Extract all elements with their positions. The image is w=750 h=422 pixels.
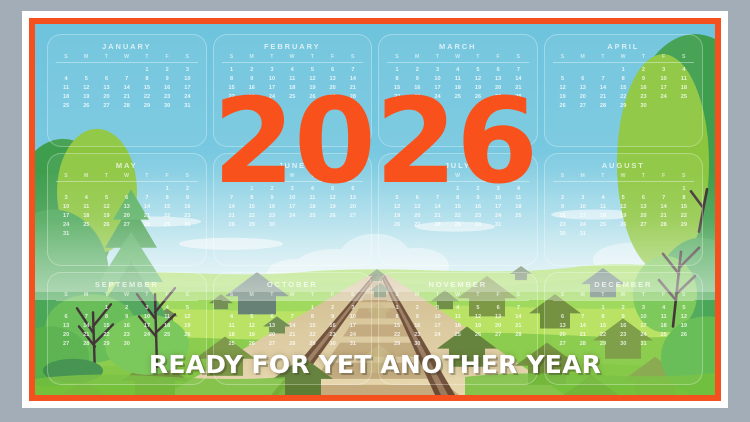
calendar-blank-cell xyxy=(553,66,573,75)
weekday-label: S xyxy=(177,54,197,60)
calendar-days: 1234567891011121314151617181920212223242… xyxy=(222,304,364,349)
calendar-month-title: SEPTEMBER xyxy=(56,280,198,289)
weekday-label: W xyxy=(117,292,137,298)
calendar-day-cell: 8 xyxy=(387,313,407,322)
calendar-day-cell: 30 xyxy=(553,230,573,239)
weekday-label: T xyxy=(468,54,488,60)
weekday-label: S xyxy=(508,292,528,298)
calendar-day-cell: 19 xyxy=(387,212,407,221)
weekday-label: S xyxy=(387,292,407,298)
calendar-day-cell: 23 xyxy=(323,331,343,340)
calendar-day-cell: 20 xyxy=(117,212,137,221)
calendar-month-title: FEBRUARY xyxy=(222,42,364,51)
calendar-day-cell: 28 xyxy=(654,221,674,230)
calendar-day-cell: 23 xyxy=(407,331,427,340)
calendar-day-cell: 4 xyxy=(157,304,177,313)
weekday-label: M xyxy=(407,54,427,60)
weekday-label: M xyxy=(573,54,593,60)
calendar-day-cell: 23 xyxy=(117,331,137,340)
calendar-day-cell: 28 xyxy=(573,340,593,349)
calendar-day-cell: 25 xyxy=(222,340,242,349)
calendar-day-cell: 20 xyxy=(488,322,508,331)
calendar-day-cell: 6 xyxy=(56,313,76,322)
calendar-day-cell: 1 xyxy=(387,304,407,313)
calendar-day-cell: 4 xyxy=(654,304,674,313)
weekday-label: S xyxy=(343,54,363,60)
calendar-day-cell: 26 xyxy=(323,212,343,221)
calendar-day-cell: 5 xyxy=(468,304,488,313)
calendar-days: 1234567891011121314151617181920212223242… xyxy=(56,304,198,349)
calendar-day-cell: 25 xyxy=(157,331,177,340)
calendar-day-cell: 28 xyxy=(508,331,528,340)
calendar-day-cell: 24 xyxy=(427,331,447,340)
calendar-day-cell: 27 xyxy=(343,212,363,221)
calendar-day-cell: 29 xyxy=(593,340,613,349)
calendar-day-cell: 24 xyxy=(633,331,653,340)
calendar-day-cell: 28 xyxy=(427,221,447,230)
calendar-day-cell: 17 xyxy=(137,322,157,331)
calendar-day-cell: 20 xyxy=(407,212,427,221)
calendar-day-cell: 8 xyxy=(593,313,613,322)
calendar-day-cell: 20 xyxy=(553,331,573,340)
calendar-day-cell: 26 xyxy=(242,340,262,349)
calendar-day-cell: 21 xyxy=(654,212,674,221)
calendar-day-cell: 20 xyxy=(56,331,76,340)
calendar-day-cell: 28 xyxy=(137,221,157,230)
calendar-day-cell: 19 xyxy=(468,322,488,331)
calendar-day-cell: 6 xyxy=(553,313,573,322)
calendar-day-cell: 15 xyxy=(593,322,613,331)
calendar-day-cell: 22 xyxy=(157,212,177,221)
calendar-day-cell: 28 xyxy=(282,340,302,349)
calendar-day-cell: 15 xyxy=(157,203,177,212)
weekday-label: T xyxy=(593,54,613,60)
calendar-day-cell: 9 xyxy=(407,313,427,322)
calendar-day-cell: 31 xyxy=(573,230,593,239)
year-headline: 2026 xyxy=(35,82,715,200)
calendar-month-title: OCTOBER xyxy=(222,280,364,289)
weekday-label: T xyxy=(96,54,116,60)
calendar-day-cell: 14 xyxy=(76,322,96,331)
calendar-day-cell: 10 xyxy=(137,313,157,322)
calendar-days: 1234567891011121314151617181920212223242… xyxy=(387,304,529,349)
calendar-day-cell: 28 xyxy=(76,340,96,349)
calendar-day-cell: 13 xyxy=(117,203,137,212)
calendar-day-cell: 16 xyxy=(553,212,573,221)
calendar-day-cell: 5 xyxy=(674,304,694,313)
weekday-label: T xyxy=(262,54,282,60)
calendar-day-cell: 29 xyxy=(674,221,694,230)
calendar-day-cell: 13 xyxy=(633,203,653,212)
calendar-day-cell: 9 xyxy=(117,313,137,322)
calendar-day-cell: 10 xyxy=(427,313,447,322)
calendar-day-cell: 29 xyxy=(387,340,407,349)
weekday-label: S xyxy=(674,292,694,298)
calendar-day-cell: 16 xyxy=(613,322,633,331)
calendar-day-cell: 23 xyxy=(177,212,197,221)
calendar-day-cell: 14 xyxy=(654,203,674,212)
calendar-day-cell: 9 xyxy=(613,313,633,322)
calendar-blank-cell xyxy=(96,66,116,75)
weekday-label: F xyxy=(654,54,674,60)
calendar-day-cell: 2 xyxy=(323,304,343,313)
calendar-month-title: NOVEMBER xyxy=(387,280,529,289)
weekday-label: M xyxy=(76,54,96,60)
calendar-day-cell: 21 xyxy=(508,322,528,331)
calendar-weekday-header: SMTWTFS xyxy=(553,54,695,63)
calendar-day-cell: 13 xyxy=(262,322,282,331)
calendar-day-cell: 8 xyxy=(96,313,116,322)
calendar-day-cell: 27 xyxy=(407,221,427,230)
calendar-day-cell: 30 xyxy=(613,340,633,349)
calendar-blank-cell xyxy=(573,304,593,313)
weekday-label: S xyxy=(553,54,573,60)
calendar-weekday-header: SMTWTFS xyxy=(387,54,529,63)
calendar-day-cell: 21 xyxy=(427,212,447,221)
calendar-day-cell: 21 xyxy=(282,331,302,340)
calendar-day-cell: 11 xyxy=(593,203,613,212)
calendar-day-cell: 21 xyxy=(573,331,593,340)
calendar-day-cell: 24 xyxy=(137,331,157,340)
weekday-label: W xyxy=(117,54,137,60)
weekday-label: T xyxy=(468,292,488,298)
weekday-label: W xyxy=(282,292,302,298)
weekday-label: F xyxy=(323,292,343,298)
calendar-day-cell: 16 xyxy=(323,322,343,331)
calendar-day-cell: 14 xyxy=(137,203,157,212)
calendar-month-title: APRIL xyxy=(553,42,695,51)
calendar-day-cell: 19 xyxy=(242,331,262,340)
calendar-day-cell: 6 xyxy=(262,313,282,322)
calendar-day-cell: 22 xyxy=(387,331,407,340)
calendar-day-cell: 15 xyxy=(674,203,694,212)
calendar-day-cell: 14 xyxy=(573,322,593,331)
calendar-day-cell: 13 xyxy=(56,322,76,331)
weekday-label: W xyxy=(613,292,633,298)
calendar-day-cell: 19 xyxy=(177,322,197,331)
calendar-day-cell: 23 xyxy=(262,212,282,221)
calendar-blank-cell xyxy=(56,304,76,313)
calendar-day-cell: 22 xyxy=(242,212,262,221)
calendar-day-cell: 1 xyxy=(302,304,322,313)
calendar-day-cell: 27 xyxy=(262,340,282,349)
poster-canvas: JANUARYSMTWTFS 1234567891011121314151617… xyxy=(0,0,750,422)
calendar-day-cell: 1 xyxy=(137,66,157,75)
calendar-day-cell: 31 xyxy=(56,230,76,239)
calendar-day-cell: 19 xyxy=(674,322,694,331)
calendar-day-cell: 9 xyxy=(323,313,343,322)
calendar-day-cell: 26 xyxy=(387,221,407,230)
calendar-day-cell: 28 xyxy=(222,221,242,230)
calendar-blank-cell xyxy=(76,304,96,313)
calendar-day-cell: 17 xyxy=(343,322,363,331)
calendar-blank-cell xyxy=(56,66,76,75)
calendar-day-cell: 3 xyxy=(654,66,674,75)
calendar-day-cell: 19 xyxy=(96,212,116,221)
calendar-day-cell: 17 xyxy=(427,322,447,331)
calendar-weekday-header: SMTWTFS xyxy=(222,292,364,301)
weekday-label: F xyxy=(488,54,508,60)
calendar-day-cell: 26 xyxy=(468,331,488,340)
weekday-label: T xyxy=(633,292,653,298)
calendar-day-cell: 26 xyxy=(177,331,197,340)
weekday-label: S xyxy=(56,292,76,298)
calendar-weekday-header: SMTWTFS xyxy=(553,292,695,301)
calendar-day-cell: 18 xyxy=(157,322,177,331)
calendar-day-cell: 13 xyxy=(553,322,573,331)
calendar-day-cell: 31 xyxy=(488,221,508,230)
calendar-day-cell: 26 xyxy=(96,221,116,230)
calendar-day-cell: 23 xyxy=(468,212,488,221)
calendar-day-cell: 30 xyxy=(117,340,137,349)
calendar-day-cell: 11 xyxy=(222,322,242,331)
calendar-day-cell: 4 xyxy=(448,304,468,313)
calendar-day-cell: 18 xyxy=(76,212,96,221)
calendar-day-cell: 10 xyxy=(56,203,76,212)
calendar-weekday-header: SMTWTFS xyxy=(222,54,364,63)
calendar-day-cell: 16 xyxy=(407,322,427,331)
weekday-label: S xyxy=(343,292,363,298)
calendar-day-cell: 17 xyxy=(56,212,76,221)
calendar-day-cell: 2 xyxy=(157,66,177,75)
weekday-label: S xyxy=(387,54,407,60)
weekday-label: F xyxy=(157,292,177,298)
calendar-day-cell: 12 xyxy=(242,322,262,331)
weekday-label: M xyxy=(242,292,262,298)
calendar-day-cell: 12 xyxy=(674,313,694,322)
calendar-day-cell: 26 xyxy=(674,331,694,340)
calendar-blank-cell xyxy=(593,66,613,75)
calendar-day-cell: 17 xyxy=(573,212,593,221)
calendar-day-cell: 30 xyxy=(262,221,282,230)
weekday-label: M xyxy=(407,292,427,298)
calendar-day-cell: 30 xyxy=(468,221,488,230)
calendar-day-cell: 3 xyxy=(343,304,363,313)
calendar-day-cell: 11 xyxy=(157,313,177,322)
weekday-label: T xyxy=(262,292,282,298)
calendar-day-cell: 11 xyxy=(654,313,674,322)
calendar-day-cell: 10 xyxy=(343,313,363,322)
calendar-weekday-header: SMTWTFS xyxy=(56,54,198,63)
calendar-day-cell: 6 xyxy=(488,304,508,313)
weekday-label: M xyxy=(242,54,262,60)
calendar-day-cell: 21 xyxy=(137,212,157,221)
calendar-day-cell: 22 xyxy=(96,331,116,340)
calendar-day-cell: 24 xyxy=(282,212,302,221)
calendar-day-cell: 1 xyxy=(593,304,613,313)
weekday-label: T xyxy=(302,54,322,60)
calendar-day-cell: 29 xyxy=(157,221,177,230)
calendar-day-cell: 25 xyxy=(448,331,468,340)
calendar-day-cell: 7 xyxy=(282,313,302,322)
calendar-weekday-header: SMTWTFS xyxy=(387,292,529,301)
calendar-day-cell: 27 xyxy=(117,221,137,230)
weekday-label: W xyxy=(448,54,468,60)
calendar-day-cell: 1 xyxy=(613,66,633,75)
calendar-day-cell: 2 xyxy=(407,304,427,313)
weekday-label: T xyxy=(96,292,116,298)
calendar-day-cell: 29 xyxy=(242,221,262,230)
calendar-day-cell: 13 xyxy=(488,313,508,322)
calendar-day-cell: 12 xyxy=(613,203,633,212)
weekday-label: S xyxy=(553,292,573,298)
calendar-day-cell: 22 xyxy=(674,212,694,221)
calendar-day-cell: 19 xyxy=(613,212,633,221)
calendar-day-cell: 14 xyxy=(508,313,528,322)
weekday-label: S xyxy=(222,292,242,298)
calendar-blank-cell xyxy=(222,304,242,313)
calendar-day-cell: 20 xyxy=(262,331,282,340)
calendar-blank-cell xyxy=(242,304,262,313)
weekday-label: W xyxy=(282,54,302,60)
calendar-days: 1234567891011121314151617181920212223242… xyxy=(553,304,695,349)
calendar-day-cell: 20 xyxy=(633,212,653,221)
calendar-day-cell: 15 xyxy=(302,322,322,331)
calendar-day-cell: 30 xyxy=(177,221,197,230)
weekday-label: W xyxy=(613,54,633,60)
calendar-day-cell: 7 xyxy=(76,313,96,322)
calendar-day-cell: 16 xyxy=(117,322,137,331)
calendar-day-cell: 9 xyxy=(553,203,573,212)
calendar-day-cell: 15 xyxy=(387,322,407,331)
calendar-day-cell: 3 xyxy=(633,304,653,313)
weekday-label: S xyxy=(508,54,528,60)
calendar-day-cell: 29 xyxy=(302,340,322,349)
weekday-label: F xyxy=(654,292,674,298)
poster-scene: JANUARYSMTWTFS 1234567891011121314151617… xyxy=(35,24,715,395)
calendar-month-title: MARCH xyxy=(387,42,529,51)
calendar-day-cell: 7 xyxy=(573,313,593,322)
calendar-day-cell: 24 xyxy=(343,331,363,340)
weekday-label: T xyxy=(302,292,322,298)
calendar-blank-cell xyxy=(573,66,593,75)
calendar-day-cell: 30 xyxy=(407,340,427,349)
calendar-weekday-header: SMTWTFS xyxy=(56,292,198,301)
calendar-day-cell: 10 xyxy=(573,203,593,212)
calendar-day-cell: 3 xyxy=(427,304,447,313)
calendar-day-cell: 29 xyxy=(96,340,116,349)
calendar-day-cell: 24 xyxy=(56,221,76,230)
calendar-day-cell: 29 xyxy=(448,221,468,230)
calendar-day-cell: 5 xyxy=(242,313,262,322)
calendar-day-cell: 11 xyxy=(448,313,468,322)
calendar-day-cell: 21 xyxy=(222,212,242,221)
calendar-day-cell: 27 xyxy=(488,331,508,340)
calendar-day-cell: 5 xyxy=(177,304,197,313)
calendar-day-cell: 26 xyxy=(613,221,633,230)
calendar-day-cell: 21 xyxy=(76,331,96,340)
calendar-blank-cell xyxy=(262,304,282,313)
weekday-label: F xyxy=(157,54,177,60)
calendar-day-cell: 1 xyxy=(96,304,116,313)
calendar-day-cell: 27 xyxy=(553,340,573,349)
weekday-label: S xyxy=(177,292,197,298)
calendar-day-cell: 25 xyxy=(76,221,96,230)
calendar-day-cell: 25 xyxy=(593,221,613,230)
calendar-day-cell: 12 xyxy=(468,313,488,322)
calendar-day-cell: 30 xyxy=(323,340,343,349)
weekday-label: T xyxy=(137,292,157,298)
calendar-day-cell: 31 xyxy=(633,340,653,349)
calendar-blank-cell xyxy=(282,304,302,313)
calendar-day-cell: 2 xyxy=(613,304,633,313)
calendar-day-cell: 11 xyxy=(76,203,96,212)
weekday-label: F xyxy=(323,54,343,60)
weekday-label: T xyxy=(427,54,447,60)
calendar-blank-cell xyxy=(553,304,573,313)
weekday-label: W xyxy=(448,292,468,298)
weekday-label: S xyxy=(674,54,694,60)
calendar-day-cell: 23 xyxy=(553,221,573,230)
calendar-day-cell: 17 xyxy=(633,322,653,331)
calendar-day-cell: 18 xyxy=(222,331,242,340)
calendar-blank-cell xyxy=(76,66,96,75)
calendar-day-cell: 22 xyxy=(448,212,468,221)
calendar-month-title: JANUARY xyxy=(56,42,198,51)
tagline-text: READY FOR YET ANOTHER YEAR xyxy=(35,352,715,377)
calendar-day-cell: 4 xyxy=(674,66,694,75)
weekday-label: T xyxy=(593,292,613,298)
calendar-day-cell: 10 xyxy=(633,313,653,322)
weekday-label: F xyxy=(488,292,508,298)
calendar-day-cell: 12 xyxy=(96,203,116,212)
calendar-day-cell: 16 xyxy=(177,203,197,212)
calendar-day-cell: 25 xyxy=(508,212,528,221)
weekday-label: T xyxy=(633,54,653,60)
calendar-day-cell: 15 xyxy=(96,322,116,331)
weekday-label: S xyxy=(56,54,76,60)
calendar-day-cell: 25 xyxy=(302,212,322,221)
weekday-label: S xyxy=(222,54,242,60)
calendar-blank-cell xyxy=(117,66,137,75)
weekday-label: T xyxy=(427,292,447,298)
weekday-label: T xyxy=(137,54,157,60)
calendar-day-cell: 24 xyxy=(488,212,508,221)
calendar-day-cell: 22 xyxy=(302,331,322,340)
calendar-month-title: DECEMBER xyxy=(553,280,695,289)
calendar-day-cell: 18 xyxy=(593,212,613,221)
calendar-day-cell: 27 xyxy=(633,221,653,230)
calendar-day-cell: 14 xyxy=(282,322,302,331)
calendar-day-cell: 2 xyxy=(117,304,137,313)
weekday-label: M xyxy=(76,292,96,298)
calendar-day-cell: 2 xyxy=(633,66,653,75)
calendar-day-cell: 24 xyxy=(573,221,593,230)
calendar-day-cell: 18 xyxy=(448,322,468,331)
calendar-day-cell: 3 xyxy=(137,304,157,313)
calendar-day-cell: 12 xyxy=(177,313,197,322)
calendar-day-cell: 23 xyxy=(613,331,633,340)
calendar-day-cell: 18 xyxy=(654,322,674,331)
calendar-day-cell: 22 xyxy=(593,331,613,340)
weekday-label: M xyxy=(573,292,593,298)
calendar-day-cell: 3 xyxy=(177,66,197,75)
calendar-day-cell: 8 xyxy=(302,313,322,322)
calendar-day-cell: 25 xyxy=(654,331,674,340)
calendar-day-cell: 4 xyxy=(222,313,242,322)
calendar-day-cell: 7 xyxy=(508,304,528,313)
calendar-day-cell: 31 xyxy=(343,340,363,349)
calendar-day-cell: 27 xyxy=(56,340,76,349)
